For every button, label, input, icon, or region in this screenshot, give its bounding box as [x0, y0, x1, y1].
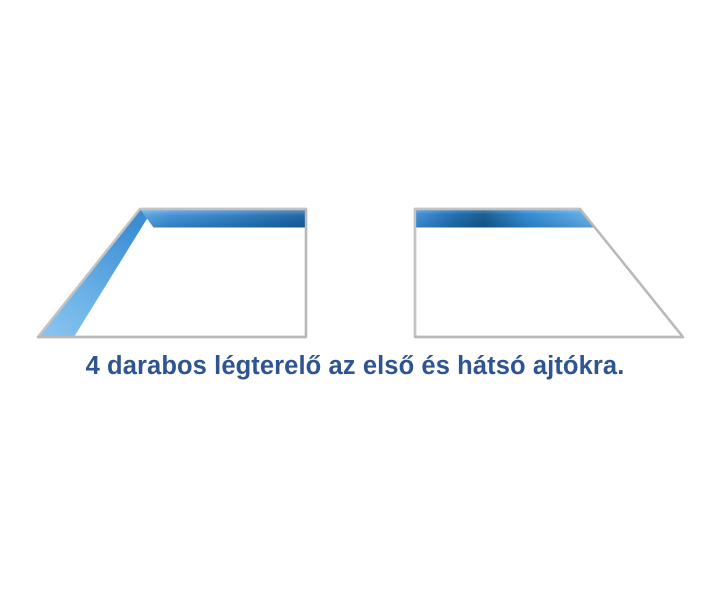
rear-door-deflector [415, 209, 683, 337]
illustration-page: 4 darabos légterelő az első és hátsó ajt… [0, 0, 710, 613]
rear-deflector-outline [415, 209, 683, 337]
product-illustration [0, 0, 710, 613]
front-deflector-top-tint-shade [140, 209, 306, 228]
rear-deflector-top-tint-shade [415, 209, 595, 228]
caption-text: 4 darabos légterelő az első és hátsó ajt… [0, 352, 710, 381]
front-door-deflector [38, 209, 306, 337]
